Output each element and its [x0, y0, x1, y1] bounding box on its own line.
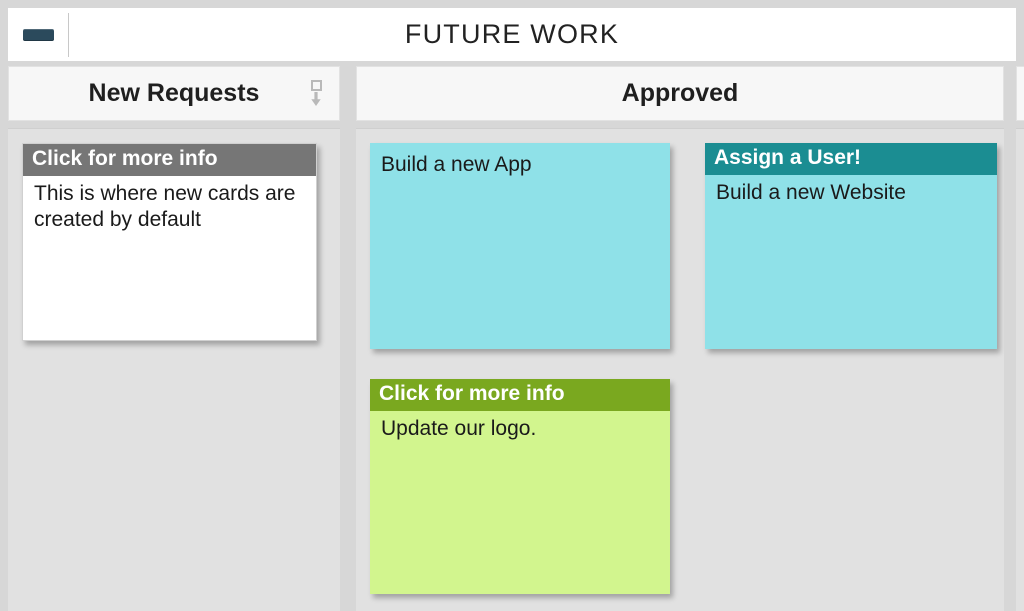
collapse-down-icon[interactable]	[307, 77, 325, 111]
column-body-next-partial[interactable]	[1016, 128, 1024, 611]
card-build-app[interactable]: Build a new App	[370, 143, 670, 349]
column-title: Approved	[357, 79, 1003, 108]
menu-pill-icon[interactable]	[23, 29, 54, 41]
app-topbar: FUTURE WORK	[8, 8, 1016, 61]
card-header[interactable]: Assign a User!	[705, 143, 997, 175]
collapse-square-glyph	[311, 80, 322, 91]
card-update-logo[interactable]: Click for more info Update our logo.	[370, 379, 670, 594]
card-header[interactable]: Click for more info	[23, 144, 316, 176]
card-header[interactable]: Click for more info	[370, 379, 670, 411]
card-body[interactable]: Build a new Website	[705, 175, 997, 217]
board: New Requests Click for more info This is…	[0, 66, 1024, 611]
menu-button[interactable]	[8, 8, 68, 61]
card-lane-right: Assign a User! Build a new Website	[705, 143, 997, 611]
column-header-approved[interactable]: Approved	[356, 66, 1004, 121]
column-body-approved[interactable]: Build a new App Click for more info Upda…	[356, 128, 1004, 611]
kanban-board-app: FUTURE WORK New Requests Click for more	[0, 0, 1024, 611]
card-new-default[interactable]: Click for more info This is where new ca…	[22, 143, 317, 341]
card-build-website[interactable]: Assign a User! Build a new Website	[705, 143, 997, 349]
column-title: New Requests	[9, 79, 339, 108]
board-column-new-requests: New Requests Click for more info This is…	[0, 66, 348, 611]
card-body[interactable]: This is where new cards are created by d…	[23, 176, 316, 245]
board-column-approved: Approved Build a new App Click for more …	[348, 66, 1012, 611]
card-body[interactable]: Build a new App	[370, 143, 670, 189]
column-body-new-requests[interactable]: Click for more info This is where new ca…	[8, 128, 340, 611]
column-header-new-requests[interactable]: New Requests	[8, 66, 340, 121]
down-arrow-glyph	[308, 92, 324, 107]
board-column-next-partial[interactable]	[1012, 66, 1024, 611]
card-lane-left: Build a new App Click for more info Upda…	[370, 143, 670, 611]
card-body[interactable]: Update our logo.	[370, 411, 670, 453]
column-header-next-partial[interactable]	[1016, 66, 1024, 121]
page-title: FUTURE WORK	[69, 19, 1016, 50]
